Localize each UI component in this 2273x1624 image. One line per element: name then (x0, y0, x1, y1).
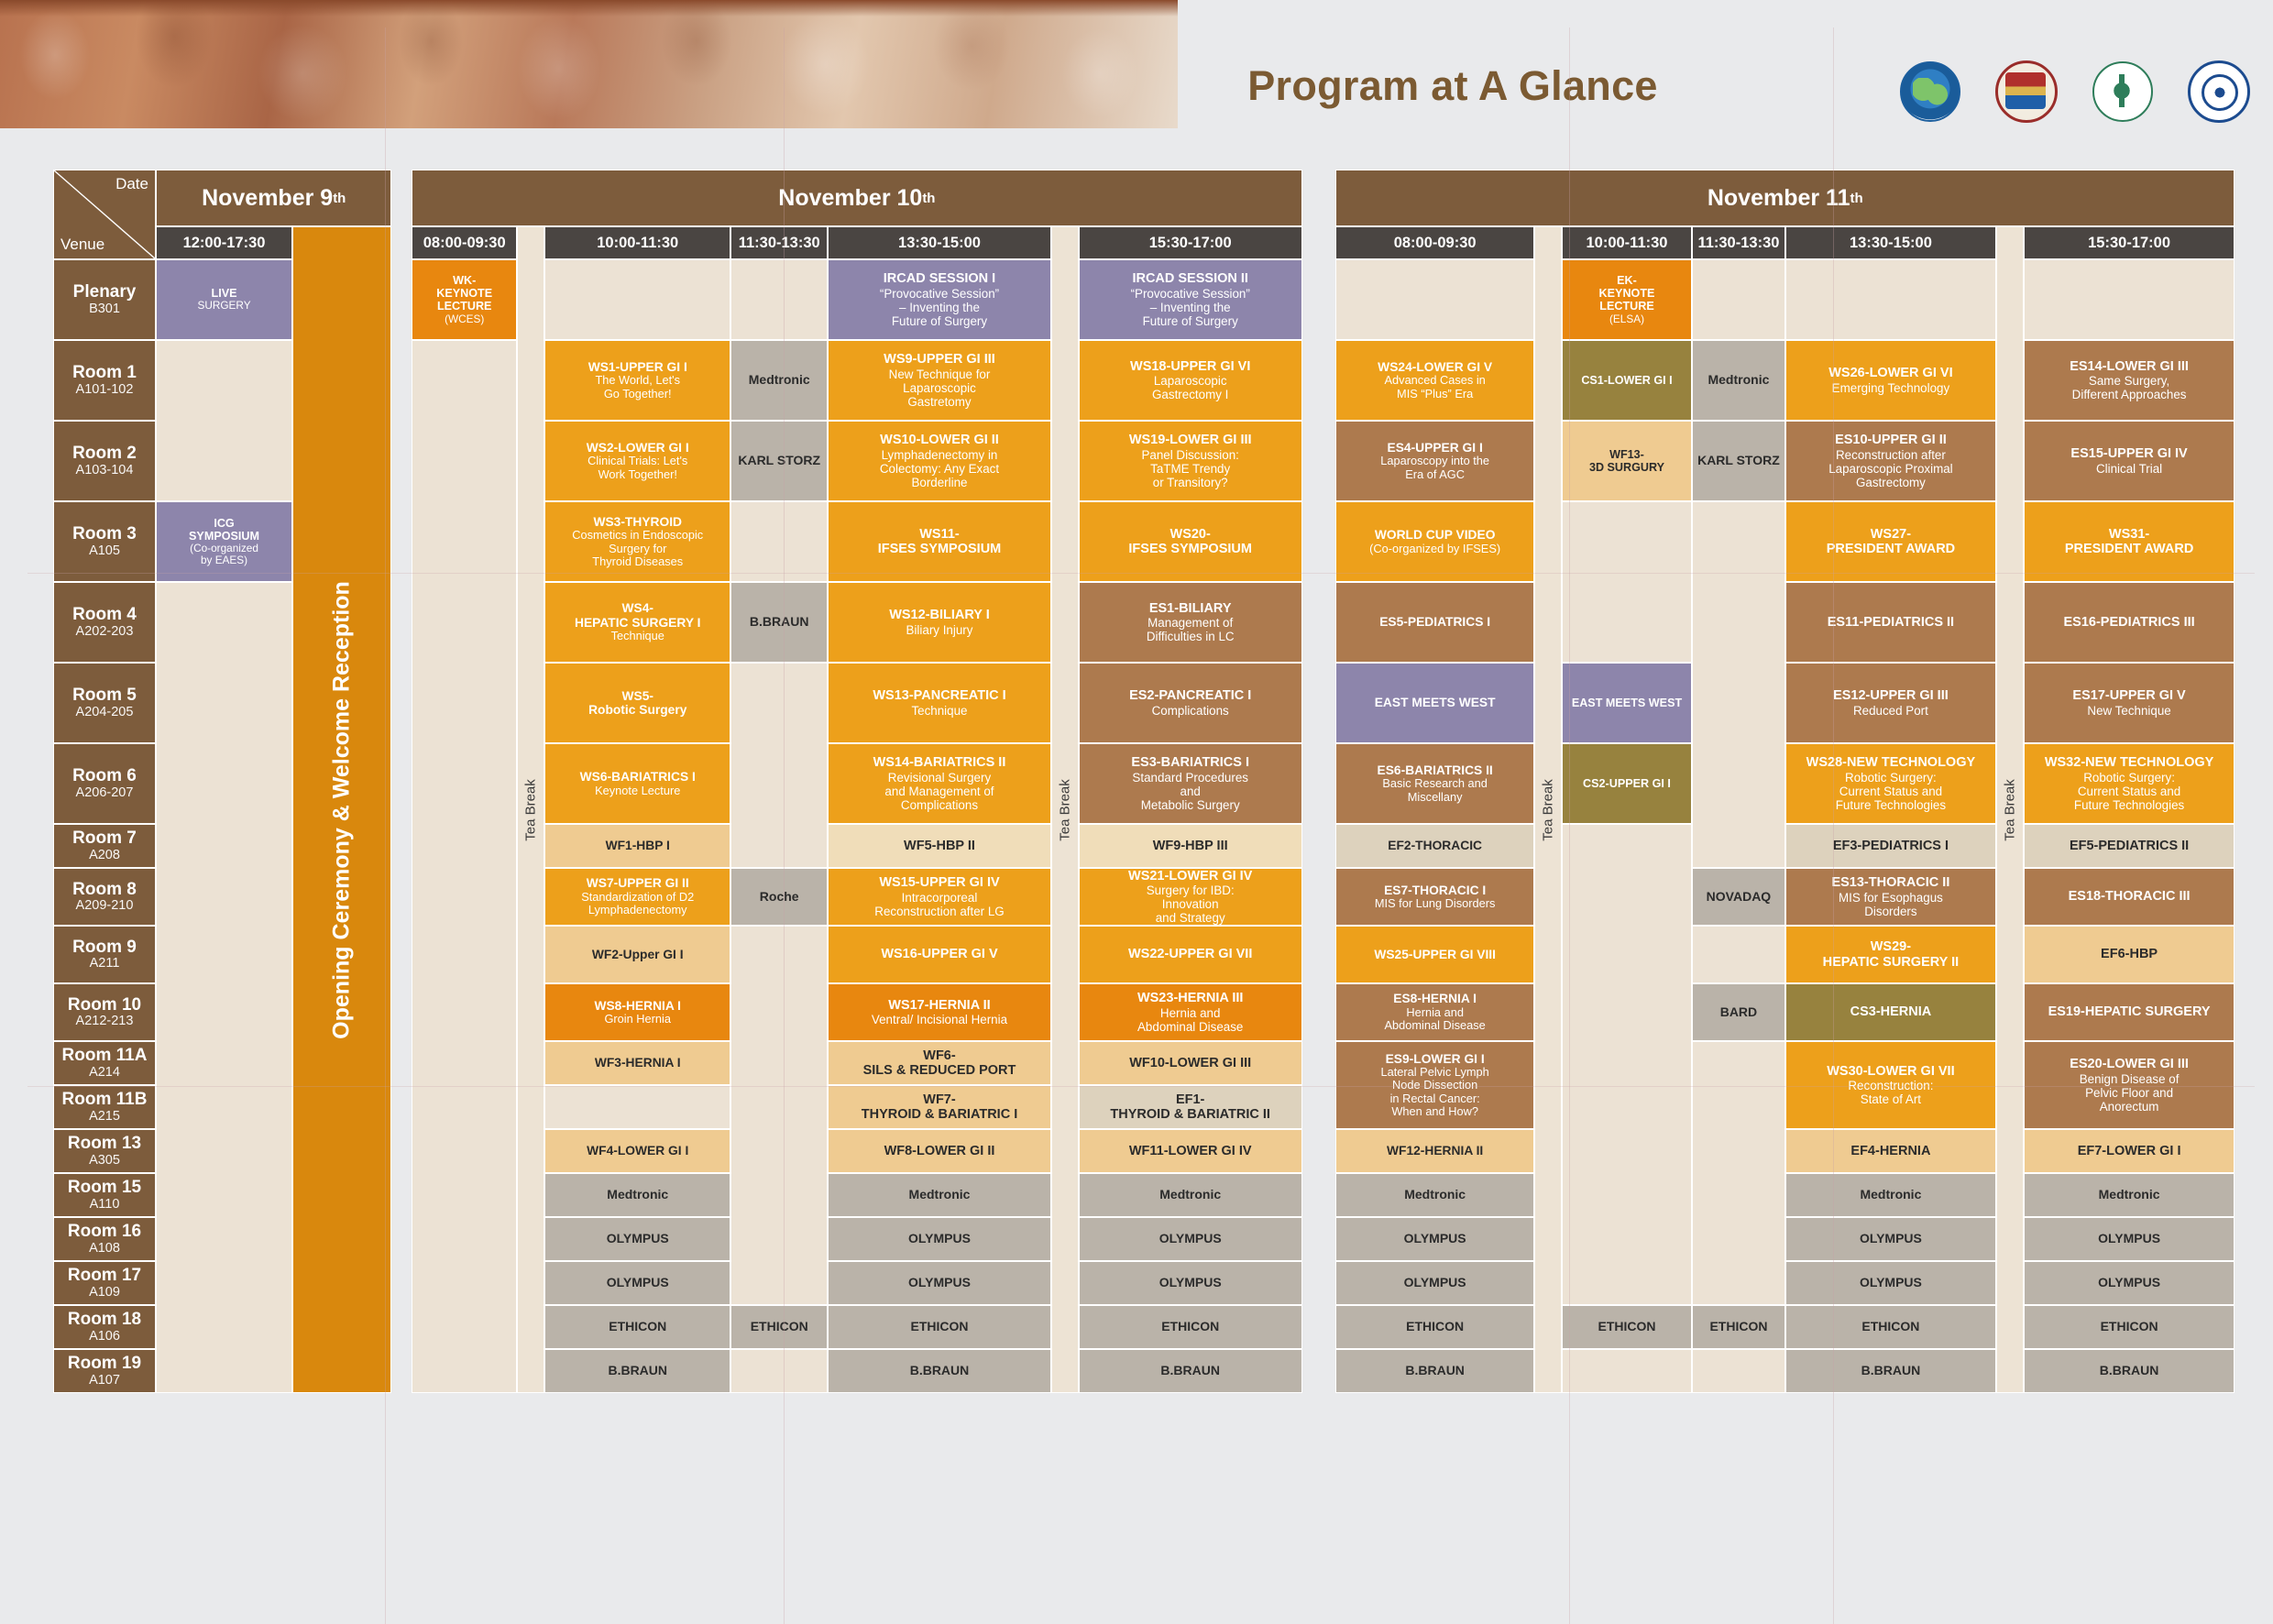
session-cell[interactable]: WS13-PANCREATIC ITechnique (828, 663, 1051, 743)
session-cell[interactable]: EK- KEYNOTE LECTURE(ELSA) (1562, 259, 1692, 340)
session-subtitle: Robotic Surgery: Current Status and Futu… (1836, 771, 1946, 812)
session-subtitle: SURGERY (197, 300, 250, 312)
session-cell[interactable]: IRCAD SESSION I“Provocative Session” – I… (828, 259, 1051, 340)
session-title: WF10-LOWER GI III (1129, 1056, 1251, 1070)
session-cell[interactable]: WF8-LOWER GI II (828, 1129, 1051, 1173)
time-slot-label: 10:00-11:30 (597, 235, 678, 252)
venue-name: Room 4 (72, 606, 137, 624)
session-subtitle: Emerging Technology (1832, 381, 1950, 395)
session-cell[interactable]: WS23-HERNIA IIIHernia and Abdominal Dise… (1079, 983, 1302, 1041)
session-cell[interactable]: ES9-LOWER GI ILateral Pelvic Lymph Node … (1335, 1041, 1534, 1129)
session-cell[interactable]: ES2-PANCREATIC IComplications (1079, 663, 1302, 743)
opening-ceremony-label: Opening Ceremony & Welcome Reception (329, 581, 356, 1039)
session-cell[interactable]: KARL STORZ (1692, 421, 1785, 501)
session-cell[interactable]: OLYMPUS (1079, 1261, 1302, 1305)
session-title: WS30-LOWER GI VII (1827, 1064, 1954, 1079)
session-subtitle: Clinical Trial (2096, 462, 2162, 476)
session-title: WS25-UPPER GI VIII (1374, 948, 1496, 961)
session-cell[interactable]: ES8-HERNIA IHernia and Abdominal Disease (1335, 983, 1534, 1041)
empty-cell (1335, 259, 1534, 340)
session-title: WS21-LOWER GI IV (1128, 869, 1252, 883)
session-cell[interactable]: WF2-Upper GI I (544, 926, 730, 983)
session-subtitle: Intracorporeal Reconstruction after LG (874, 891, 1004, 918)
session-cell[interactable]: Medtronic (1079, 1173, 1302, 1217)
time-slot-label: 13:30-15:00 (898, 235, 981, 252)
session-cell[interactable]: KARL STORZ (730, 421, 828, 501)
empty-cell (730, 1349, 828, 1393)
session-subtitle: The World, Let's Go Together! (595, 374, 680, 401)
venue-name: Room 3 (72, 525, 137, 543)
venue-name: Room 9 (72, 938, 137, 957)
session-title: EF4-HERNIA (1850, 1144, 1930, 1158)
time-slot-label: 08:00-09:30 (1394, 235, 1477, 252)
session-title: ES1-BILIARY (1149, 601, 1232, 616)
empty-cell (156, 340, 292, 501)
session-subtitle: Laparoscopic Gastrectomy I (1152, 374, 1228, 401)
venue-name: Room 1 (72, 364, 137, 382)
session-title: ES12-UPPER GI III (1833, 688, 1949, 703)
session-subtitle: (Co-organized by IFSES) (1369, 543, 1500, 555)
session-cell[interactable]: ETHICON (1692, 1305, 1785, 1349)
session-cell[interactable]: WF12-HERNIA II (1335, 1129, 1534, 1173)
session-subtitle: Technique (611, 630, 664, 642)
session-subtitle: Technique (911, 704, 967, 718)
session-cell[interactable]: OLYMPUS (544, 1261, 730, 1305)
session-title: WS26-LOWER GI VI (1828, 366, 1952, 380)
session-subtitle: Hernia and Abdominal Disease (1385, 1006, 1486, 1033)
session-cell[interactable]: ES4-UPPER GI ILaparoscopy into the Era o… (1335, 421, 1534, 501)
session-cell[interactable]: B.BRAUN (730, 582, 828, 663)
time-slot-header: 08:00-09:30 (412, 226, 517, 259)
session-cell[interactable]: WS4- HEPATIC SURGERY ITechnique (544, 582, 730, 663)
session-title: OLYMPUS (908, 1232, 971, 1246)
venue-name: Room 5 (72, 686, 137, 705)
decorative-header-band (0, 0, 1178, 128)
session-cell[interactable]: WS29- HEPATIC SURGERY II (1785, 926, 1996, 983)
session-cell[interactable]: OLYMPUS (1785, 1261, 1996, 1305)
session-cell[interactable]: EF7-LOWER GI I (2024, 1129, 2235, 1173)
venue-row-room-15-left: Room 15A110 (53, 1173, 156, 1217)
venue-code: A101-102 (76, 382, 134, 397)
day-header-nov11: November 11th (1335, 170, 2235, 226)
time-slot-header: 08:00-09:30 (1335, 226, 1534, 259)
session-cell[interactable]: ES7-THORACIC IMIS for Lung Disorders (1335, 868, 1534, 926)
time-slot-header: 15:30-17:00 (2024, 226, 2235, 259)
venue-code: A212-213 (76, 1014, 134, 1028)
session-cell[interactable]: WF13- 3D SURGURY (1562, 421, 1692, 501)
session-subtitle: Surgery for IBD: Innovation and Strategy (1147, 883, 1235, 925)
session-title: OLYMPUS (2098, 1276, 2160, 1290)
session-title: Medtronic (607, 1188, 668, 1202)
time-slot-header: 13:30-15:00 (828, 226, 1051, 259)
time-slot-label: 08:00-09:30 (423, 235, 506, 252)
date-venue-corner-left: Date Venue (53, 170, 156, 259)
session-title: ETHICON (609, 1320, 666, 1334)
session-cell[interactable]: WS10-LOWER GI IILymphadenectomy in Colec… (828, 421, 1051, 501)
empty-cell (2024, 259, 2235, 340)
session-cell[interactable]: WF3-HERNIA I (544, 1041, 730, 1085)
session-cell[interactable]: ETHICON (1335, 1305, 1534, 1349)
session-cell[interactable]: OLYMPUS (1335, 1261, 1534, 1305)
session-cell[interactable]: WS17-HERNIA IIVentral/ Incisional Hernia (828, 983, 1051, 1041)
session-cell[interactable]: WS5- Robotic Surgery (544, 663, 730, 743)
session-cell[interactable]: WS19-LOWER GI IIIPanel Discussion: TaTME… (1079, 421, 1302, 501)
session-subtitle: Ventral/ Incisional Hernia (872, 1013, 1007, 1026)
session-title: EF6-HBP (2101, 947, 2158, 961)
time-slot-header: 10:00-11:30 (544, 226, 730, 259)
time-slot-label: 11:30-13:30 (1697, 235, 1779, 252)
session-title: WF1-HBP I (606, 839, 670, 852)
tea-break-label: Tea Break (1540, 779, 1555, 841)
time-slot-header: 15:30-17:00 (1079, 226, 1302, 259)
session-cell[interactable]: WS11- IFSES SYMPOSIUM (828, 501, 1051, 582)
session-cell[interactable]: OLYMPUS (828, 1261, 1051, 1305)
session-cell[interactable]: Medtronic (828, 1173, 1051, 1217)
session-title: EF5-PEDIATRICS II (2070, 839, 2189, 853)
session-cell[interactable]: ETHICON (730, 1305, 828, 1349)
session-title: OLYMPUS (1860, 1232, 1922, 1246)
session-cell[interactable]: OLYMPUS (1785, 1217, 1996, 1261)
day-header-nov10: November 10th (412, 170, 1302, 226)
session-cell[interactable]: ETHICON (544, 1305, 730, 1349)
session-title: WF8-LOWER GI II (884, 1144, 995, 1158)
session-cell[interactable]: WS1-UPPER GI IThe World, Let's Go Togeth… (544, 340, 730, 421)
session-cell[interactable]: ES6-BARIATRICS IIBasic Research and Misc… (1335, 743, 1534, 824)
session-cell[interactable]: ETHICON (1562, 1305, 1692, 1349)
session-title: ES19-HEPATIC SURGERY (2048, 1004, 2211, 1019)
venue-row-room-9-left: Room 9A211 (53, 926, 156, 983)
session-title: WF6- SILS & REDUCED PORT (863, 1048, 1016, 1078)
session-cell[interactable]: ES18-THORACIC III (2024, 868, 2235, 926)
venue-code: A305 (89, 1153, 120, 1168)
venue-row-plenary-left: PlenaryB301 (53, 259, 156, 340)
session-subtitle: Revisional Surgery and Management of Com… (884, 771, 994, 812)
session-cell[interactable]: WS32-NEW TECHNOLOGYRobotic Surgery: Curr… (2024, 743, 2235, 824)
session-subtitle: (ELSA) (1609, 313, 1644, 325)
session-cell[interactable]: WS22-UPPER GI VII (1079, 926, 1302, 983)
session-title: WS8-HERNIA I (594, 999, 681, 1013)
tea-break-column: Tea Break (1534, 226, 1562, 1393)
tea-break-column: Tea Break (1051, 226, 1079, 1393)
session-title: OLYMPUS (1159, 1276, 1222, 1290)
empty-cell (730, 663, 828, 868)
venue-row-room-4-left: Room 4A202-203 (53, 582, 156, 663)
time-slot-label: 13:30-15:00 (1850, 235, 1932, 252)
session-cell[interactable]: EAST MEETS WEST (1562, 663, 1692, 743)
session-title: EF1- THYROID & BARIATRIC II (1110, 1092, 1270, 1122)
session-title: WS1-UPPER GI I (588, 360, 687, 374)
session-title: EK- KEYNOTE LECTURE (1599, 274, 1655, 313)
session-cell[interactable]: Medtronic (1785, 1173, 1996, 1217)
session-cell[interactable]: WF11-LOWER GI IV (1079, 1129, 1302, 1173)
session-cell[interactable]: EF3-PEDIATRICS I (1785, 824, 1996, 868)
session-cell[interactable]: WF9-HBP III (1079, 824, 1302, 868)
venue-row-room-11b-left: Room 11BA215 (53, 1085, 156, 1129)
session-subtitle: Reconstruction: State of Art (1848, 1079, 1933, 1106)
session-cell[interactable]: WORLD CUP VIDEO(Co-organized by IFSES) (1335, 501, 1534, 582)
session-cell[interactable]: WF4-LOWER GI I (544, 1129, 730, 1173)
session-title: WF13- 3D SURGURY (1589, 448, 1664, 474)
time-slot-label: 10:00-11:30 (1586, 235, 1667, 252)
session-cell[interactable]: B.BRAUN (2024, 1349, 2235, 1393)
empty-cell (1692, 1041, 1785, 1305)
session-subtitle: Basic Research and Miscellany (1382, 777, 1488, 804)
venue-row-room-7-left: Room 7A208 (53, 824, 156, 868)
session-cell[interactable]: ETHICON (1785, 1305, 1996, 1349)
session-cell[interactable]: WS2-LOWER GI IClinical Trials: Let's Wor… (544, 421, 730, 501)
session-cell[interactable]: WS12-BILIARY IBiliary Injury (828, 582, 1051, 663)
tea-break-column: Tea Break (517, 226, 544, 1393)
session-title: WS24-LOWER GI V (1378, 360, 1492, 374)
session-title: WS22-UPPER GI VII (1128, 947, 1252, 961)
empty-cell (1785, 259, 1996, 340)
day-ordinal-suffix: th (922, 191, 935, 206)
session-title: ES11-PEDIATRICS II (1828, 615, 1954, 630)
session-cell[interactable]: ES3-BARIATRICS IStandard Procedures and … (1079, 743, 1302, 824)
session-cell[interactable]: ES1-BILIARYManagement of Difficulties in… (1079, 582, 1302, 663)
session-cell[interactable]: WF6- SILS & REDUCED PORT (828, 1041, 1051, 1085)
session-cell[interactable]: WS28-NEW TECHNOLOGYRobotic Surgery: Curr… (1785, 743, 1996, 824)
session-title: CS3-HERNIA (1850, 1004, 1932, 1019)
venue-row-room-3-left: Room 3A105 (53, 501, 156, 582)
session-cell[interactable]: NOVADAQ (1692, 868, 1785, 926)
venue-row-room-18-left: Room 18A106 (53, 1305, 156, 1349)
day-ordinal-suffix: th (1850, 191, 1862, 206)
session-title: WS3-THYROID (593, 515, 682, 529)
day-label: November 10 (778, 185, 922, 212)
session-cell[interactable]: ES17-UPPER GI VNew Technique (2024, 663, 2235, 743)
session-title: Roche (760, 890, 799, 905)
session-cell[interactable]: WS24-LOWER GI VAdvanced Cases in MIS “Pl… (1335, 340, 1534, 421)
venue-name: Plenary (73, 283, 137, 302)
empty-cell (544, 1085, 730, 1129)
opening-ceremony-block[interactable]: Opening Ceremony & Welcome Reception (292, 226, 391, 1393)
tea-break-label: Tea Break (1057, 779, 1072, 841)
session-title: ETHICON (910, 1320, 968, 1334)
session-title: B.BRAUN (1160, 1364, 1220, 1378)
session-title: KARL STORZ (1697, 454, 1780, 468)
session-cell[interactable]: EF4-HERNIA (1785, 1129, 1996, 1173)
session-cell[interactable]: EF6-HBP (2024, 926, 2235, 983)
session-cell[interactable]: CS3-HERNIA (1785, 983, 1996, 1041)
session-title: ES10-UPPER GI II (1835, 433, 1947, 447)
session-subtitle: Biliary Injury (906, 623, 973, 637)
venue-name: Room 2 (72, 444, 137, 463)
session-cell[interactable]: WS14-BARIATRICS IIRevisional Surgery and… (828, 743, 1051, 824)
session-title: WS5- Robotic Surgery (588, 689, 686, 718)
venue-name: Room 10 (68, 996, 141, 1015)
venue-code: A214 (89, 1065, 120, 1080)
session-title: ETHICON (1161, 1320, 1219, 1334)
day-header-nov9: November 9th (156, 170, 391, 226)
session-cell[interactable]: OLYMPUS (1079, 1217, 1302, 1261)
session-cell[interactable]: EF5-PEDIATRICS II (2024, 824, 2235, 868)
session-cell[interactable]: LIVESURGERY (156, 259, 292, 340)
session-cell[interactable]: WS9-UPPER GI IIINew Technique for Laparo… (828, 340, 1051, 421)
session-subtitle: (Co-organized by EAES) (190, 543, 258, 566)
venue-code: A206-207 (76, 785, 134, 800)
session-subtitle: Clinical Trials: Let's Work Together! (587, 455, 687, 481)
venue-name: Room 8 (72, 881, 137, 899)
session-cell[interactable]: ES14-LOWER GI IIISame Surgery, Different… (2024, 340, 2235, 421)
session-cell[interactable]: WF7- THYROID & BARIATRIC I (828, 1085, 1051, 1129)
session-cell[interactable]: WS27- PRESIDENT AWARD (1785, 501, 1996, 582)
venue-row-room-16-left: Room 16A108 (53, 1217, 156, 1261)
session-subtitle: Robotic Surgery: Current Status and Futu… (2074, 771, 2184, 812)
session-cell[interactable]: WS6-BARIATRICS IKeynote Lecture (544, 743, 730, 824)
session-cell[interactable]: OLYMPUS (2024, 1261, 2235, 1305)
session-cell[interactable]: ETHICON (2024, 1305, 2235, 1349)
session-cell[interactable]: EF1- THYROID & BARIATRIC II (1079, 1085, 1302, 1129)
session-cell[interactable]: ES15-UPPER GI IVClinical Trial (2024, 421, 2235, 501)
empty-cell (1562, 1349, 1692, 1393)
session-cell[interactable]: WF5-HBP II (828, 824, 1051, 868)
session-cell[interactable]: OLYMPUS (2024, 1217, 2235, 1261)
session-cell[interactable]: ES10-UPPER GI IIReconstruction after Lap… (1785, 421, 1996, 501)
session-cell[interactable]: ES12-UPPER GI IIIReduced Port (1785, 663, 1996, 743)
venue-row-room-6-left: Room 6A206-207 (53, 743, 156, 824)
venue-row-room-19-left: Room 19A107 (53, 1349, 156, 1393)
session-title: WF4-LOWER GI I (587, 1144, 688, 1158)
session-cell[interactable]: ES20-LOWER GI IIIBenign Disease of Pelvi… (2024, 1041, 2235, 1129)
session-title: WS16-UPPER GI V (881, 947, 997, 961)
session-cell[interactable]: Medtronic (1335, 1173, 1534, 1217)
session-cell[interactable]: Roche (730, 868, 828, 926)
venue-name: Room 17 (68, 1267, 141, 1285)
session-cell[interactable]: WF1-HBP I (544, 824, 730, 868)
session-cell[interactable]: ES13-THORACIC IIMIS for Esophagus Disord… (1785, 868, 1996, 926)
venue-code: A103-104 (76, 463, 134, 477)
session-cell[interactable]: Medtronic (1692, 340, 1785, 421)
session-cell[interactable]: WK- KEYNOTE LECTURE(WCES) (412, 259, 517, 340)
session-title: ES20-LOWER GI III (2070, 1057, 2189, 1071)
empty-cell (730, 501, 828, 582)
time-slot-header: 12:00-17:30 (156, 226, 292, 259)
session-subtitle: Standardization of D2 Lymphadenectomy (581, 891, 694, 917)
session-title: LIVE (212, 287, 237, 300)
venue-code: A105 (89, 543, 120, 558)
session-cell[interactable]: WS20- IFSES SYMPOSIUM (1079, 501, 1302, 582)
session-cell[interactable]: ES19-HEPATIC SURGERY (2024, 983, 2235, 1041)
session-cell[interactable]: WS18-UPPER GI VILaparoscopic Gastrectomy… (1079, 340, 1302, 421)
session-subtitle: Lymphadenectomy in Colectomy: Any Exact … (880, 448, 999, 489)
session-title: WS12-BILIARY I (889, 608, 990, 622)
session-title: ES3-BARIATRICS I (1131, 755, 1249, 770)
session-title: Medtronic (2099, 1188, 2160, 1202)
venue-row-room-2-left: Room 2A103-104 (53, 421, 156, 501)
session-cell[interactable]: B.BRAUN (1785, 1349, 1996, 1393)
session-subtitle: Benign Disease of Pelvic Floor and Anore… (2080, 1072, 2180, 1114)
session-title: ES15-UPPER GI IV (2070, 446, 2187, 461)
session-cell[interactable]: Medtronic (730, 340, 828, 421)
venue-code: A110 (90, 1197, 120, 1212)
venue-code: A215 (89, 1109, 120, 1124)
time-slot-header: 13:30-15:00 (1785, 226, 1996, 259)
session-cell[interactable]: B.BRAUN (1335, 1349, 1534, 1393)
session-title: WK- KEYNOTE LECTURE (436, 274, 492, 313)
session-title: WS2-LOWER GI I (587, 441, 689, 455)
session-cell[interactable]: ETHICON (1079, 1305, 1302, 1349)
session-cell[interactable]: OLYMPUS (828, 1217, 1051, 1261)
session-cell[interactable]: ES16-PEDIATRICS III (2024, 582, 2235, 663)
venue-name: Room 15 (68, 1179, 141, 1197)
session-title: ES13-THORACIC II (1831, 875, 1949, 890)
venue-code: A209-210 (76, 898, 134, 913)
session-title: WS10-LOWER GI II (880, 433, 999, 447)
session-cell[interactable]: WS3-THYROIDCosmetics in Endoscopic Surge… (544, 501, 730, 582)
session-cell[interactable]: BARD (1692, 983, 1785, 1041)
session-title: ES8-HERNIA I (1393, 992, 1477, 1005)
session-title: WS15-UPPER GI IV (879, 875, 999, 890)
session-cell[interactable]: B.BRAUN (1079, 1349, 1302, 1393)
empty-cell (1692, 926, 1785, 983)
session-title: WS13-PANCREATIC I (873, 688, 1005, 703)
session-subtitle: Keynote Lecture (595, 785, 680, 797)
session-cell[interactable]: EAST MEETS WEST (1335, 663, 1534, 743)
session-title: Medtronic (1860, 1188, 1921, 1202)
session-cell[interactable]: WS8-HERNIA IGroin Hernia (544, 983, 730, 1041)
session-cell[interactable]: EF2-THORACIC (1335, 824, 1534, 868)
session-subtitle: Panel Discussion: TaTME Trendy or Transi… (1141, 448, 1238, 489)
session-title: OLYMPUS (1404, 1232, 1466, 1246)
session-title: WS28-NEW TECHNOLOGY (1806, 755, 1975, 770)
session-title: OLYMPUS (1159, 1232, 1222, 1246)
tea-break-label: Tea Break (523, 779, 539, 841)
session-title: EAST MEETS WEST (1375, 696, 1496, 709)
time-slot-label: 15:30-17:00 (2088, 235, 2170, 252)
session-cell[interactable]: CS2-UPPER GI I (1562, 743, 1692, 824)
page-title: Program at A Glance (1214, 62, 1691, 110)
session-cell[interactable]: Medtronic (544, 1173, 730, 1217)
session-cell[interactable]: WS30-LOWER GI VIIReconstruction: State o… (1785, 1041, 1996, 1129)
session-cell[interactable]: WS16-UPPER GI V (828, 926, 1051, 983)
venue-code: B301 (89, 302, 120, 316)
session-title: ETHICON (1406, 1320, 1464, 1334)
session-title: WS14-BARIATRICS II (873, 755, 1006, 770)
session-cell[interactable]: ES5-PEDIATRICS I (1335, 582, 1534, 663)
session-cell[interactable]: ICG SYMPOSIUM(Co-organized by EAES) (156, 501, 292, 582)
session-cell[interactable]: WS15-UPPER GI IVIntracorporeal Reconstru… (828, 868, 1051, 926)
session-subtitle: Cosmetics in Endoscopic Surgery for Thyr… (572, 529, 703, 568)
session-cell[interactable]: WS26-LOWER GI VIEmerging Technology (1785, 340, 1996, 421)
session-title: WF7- THYROID & BARIATRIC I (862, 1092, 1018, 1122)
session-title: WS20- IFSES SYMPOSIUM (1128, 527, 1252, 556)
session-cell[interactable]: WF10-LOWER GI III (1079, 1041, 1302, 1085)
session-cell[interactable]: WS31- PRESIDENT AWARD (2024, 501, 2235, 582)
session-title: ES9-LOWER GI I (1386, 1052, 1485, 1066)
time-slot-label: 11:30-13:30 (739, 235, 820, 252)
session-cell[interactable]: CS1-LOWER GI I (1562, 340, 1692, 421)
session-cell[interactable]: WS7-UPPER GI IIStandardization of D2 Lym… (544, 868, 730, 926)
session-title: WS4- HEPATIC SURGERY I (575, 601, 700, 630)
session-title: OLYMPUS (1404, 1276, 1466, 1290)
session-cell[interactable]: WS21-LOWER GI IVSurgery for IBD: Innovat… (1079, 868, 1302, 926)
session-title: Medtronic (749, 373, 810, 388)
session-cell[interactable]: OLYMPUS (1335, 1217, 1534, 1261)
session-title: ES2-PANCREATIC I (1129, 688, 1251, 703)
session-title: WS32-NEW TECHNOLOGY (2045, 755, 2213, 770)
session-cell[interactable]: WS25-UPPER GI VIII (1335, 926, 1534, 983)
session-cell[interactable]: OLYMPUS (544, 1217, 730, 1261)
session-cell[interactable]: Medtronic (2024, 1173, 2235, 1217)
session-cell[interactable]: B.BRAUN (828, 1349, 1051, 1393)
session-cell[interactable]: B.BRAUN (544, 1349, 730, 1393)
session-cell[interactable]: IRCAD SESSION II“Provocative Session” – … (1079, 259, 1302, 340)
session-cell[interactable]: ES11-PEDIATRICS II (1785, 582, 1996, 663)
session-title: B.BRAUN (608, 1364, 667, 1378)
session-cell[interactable]: ETHICON (828, 1305, 1051, 1349)
logo-row (1900, 60, 2250, 123)
